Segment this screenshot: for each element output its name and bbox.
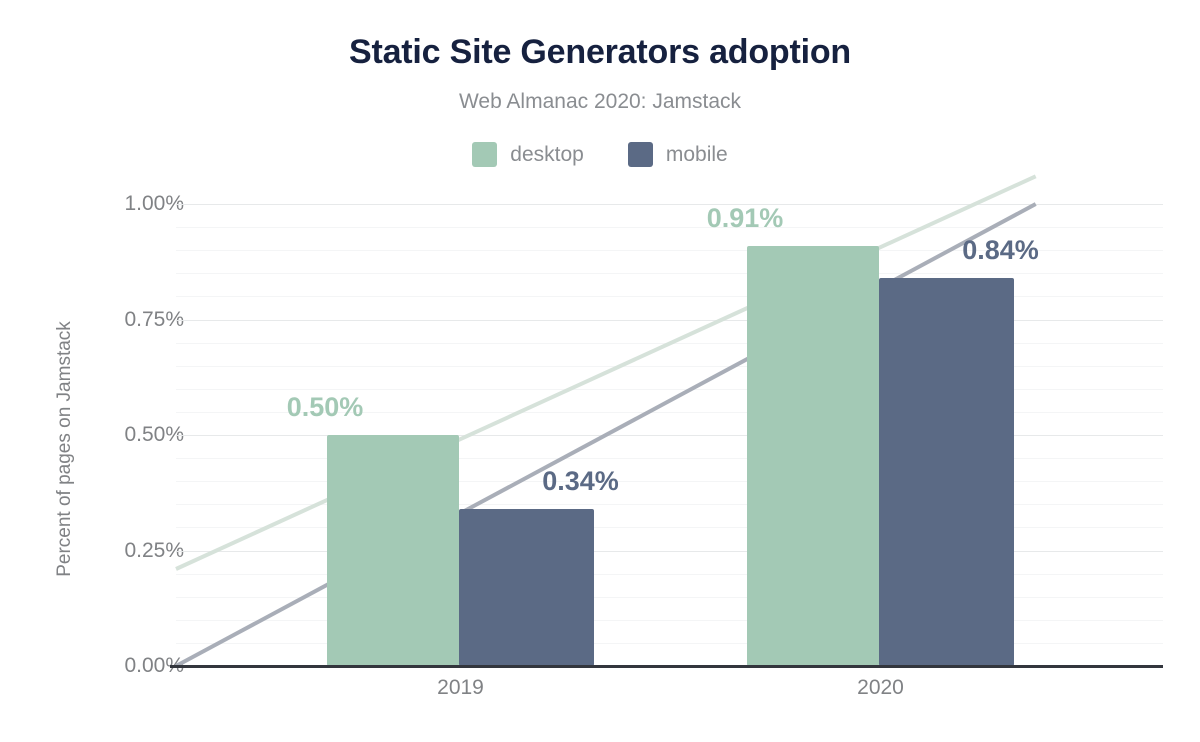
bar-label-desktop-2020: 0.91% <box>707 203 784 234</box>
x-axis-tick-label: 2020 <box>857 676 904 700</box>
plot-area <box>176 204 1163 666</box>
x-axis-line <box>170 665 1163 668</box>
trendlines-layer <box>176 204 1163 666</box>
x-axis-tick-label: 2019 <box>437 676 484 700</box>
bar-label-mobile-2019: 0.34% <box>542 466 619 497</box>
bar-label-desktop-2019: 0.50% <box>287 392 364 423</box>
bar-desktop-2020[interactable] <box>747 246 879 666</box>
bar-mobile-2019[interactable] <box>459 509 594 666</box>
bar-mobile-2020[interactable] <box>879 278 1014 666</box>
chart-root: Static Site Generators adoption Web Alma… <box>0 0 1200 742</box>
bar-label-mobile-2020: 0.84% <box>962 235 1039 266</box>
bar-desktop-2019[interactable] <box>327 435 459 666</box>
